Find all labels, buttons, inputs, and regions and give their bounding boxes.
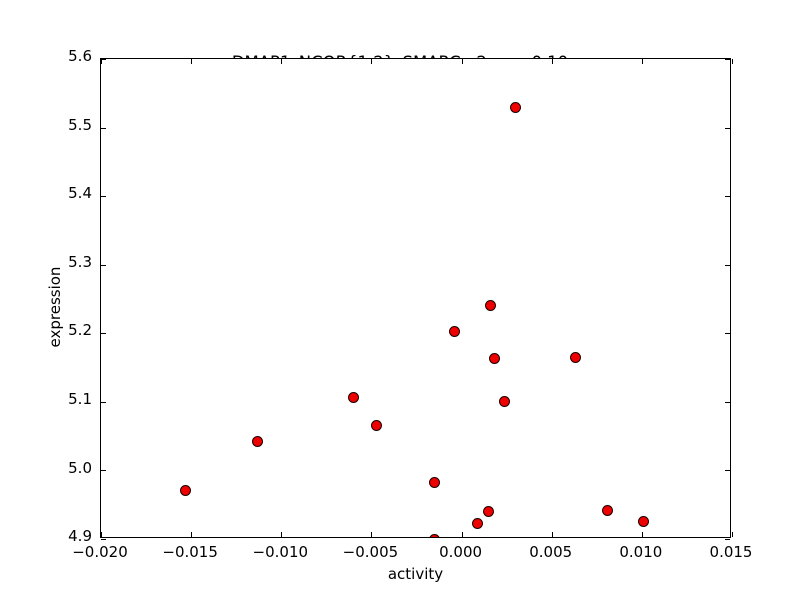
y-tick: [101, 333, 106, 334]
data-point: [483, 506, 494, 517]
plot-data-area: [101, 59, 730, 537]
y-tick: [725, 539, 730, 540]
data-point: [429, 534, 440, 538]
y-tick: [101, 128, 106, 129]
data-point: [472, 518, 483, 529]
x-tick: [191, 532, 192, 537]
y-tick: [725, 402, 730, 403]
scatter-plot-figure: DMAP1_NCOR{1,2}_SMARC.p2, ρ = 0.10 hg18_…: [0, 0, 800, 600]
x-tick: [371, 532, 372, 537]
x-tick: [462, 532, 463, 537]
x-tick-label: −0.010: [253, 543, 309, 561]
y-tick: [101, 59, 106, 60]
y-tick: [725, 59, 730, 60]
y-tick: [101, 470, 106, 471]
x-tick: [642, 532, 643, 537]
data-point: [429, 477, 440, 488]
data-point: [602, 505, 613, 516]
y-tick: [725, 333, 730, 334]
x-tick: [732, 59, 733, 64]
x-tick: [281, 59, 282, 64]
x-tick: [462, 59, 463, 64]
data-point: [371, 420, 382, 431]
x-tick-label: 0.005: [529, 543, 572, 561]
x-tick-label: 0.015: [710, 543, 753, 561]
x-tick: [732, 532, 733, 537]
data-point: [180, 485, 191, 496]
x-tick: [552, 59, 553, 64]
x-tick: [552, 532, 553, 537]
x-tick-label: −0.015: [162, 543, 218, 561]
data-point: [485, 300, 496, 311]
x-tick-label: −0.005: [343, 543, 399, 561]
y-tick: [725, 265, 730, 266]
plot-axes-frame: [100, 58, 731, 538]
x-tick: [371, 59, 372, 64]
y-tick: [725, 128, 730, 129]
x-tick-label: 0.000: [439, 543, 482, 561]
y-axis-label: expression: [46, 247, 64, 367]
data-point: [348, 392, 359, 403]
y-tick: [725, 196, 730, 197]
y-tick: [101, 196, 106, 197]
y-tick: [101, 402, 106, 403]
y-tick: [101, 265, 106, 266]
y-tick: [725, 470, 730, 471]
data-point: [638, 516, 649, 527]
y-tick: [101, 539, 106, 540]
data-point: [499, 396, 510, 407]
x-axis-label: activity: [100, 565, 731, 583]
data-point: [252, 436, 263, 447]
x-tick: [281, 532, 282, 537]
data-point: [449, 326, 460, 337]
data-point: [489, 353, 500, 364]
x-tick-label: −0.020: [72, 543, 128, 561]
x-tick-label: 0.010: [619, 543, 662, 561]
data-point: [570, 352, 581, 363]
x-tick: [642, 59, 643, 64]
x-tick: [101, 532, 102, 537]
x-tick: [191, 59, 192, 64]
data-point: [510, 102, 521, 113]
